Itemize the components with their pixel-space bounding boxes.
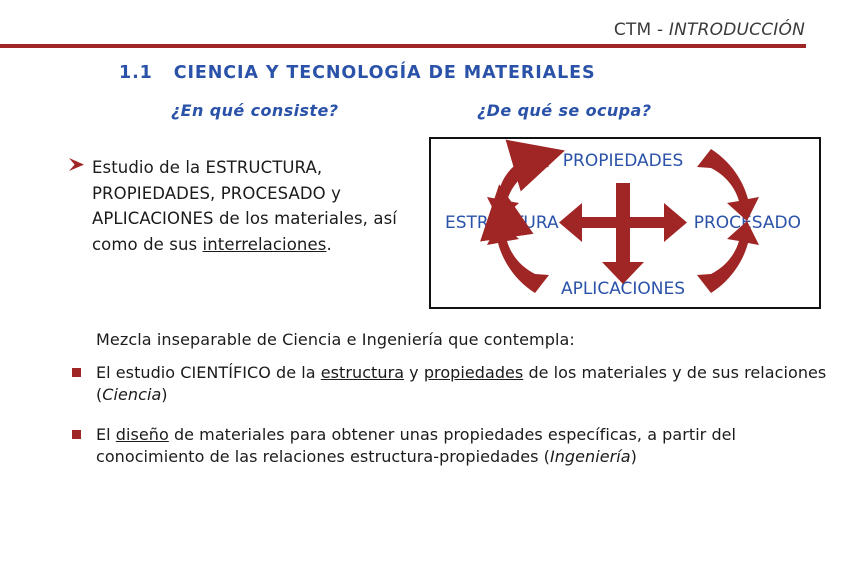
- item2-s3: ): [631, 447, 637, 466]
- item1-underline-propiedades: propiedades: [424, 363, 523, 382]
- list-item: El diseño de materiales para obtener una…: [72, 424, 832, 468]
- header-prefix: CTM -: [614, 20, 669, 40]
- item1-s1: El estudio CIENTÍFICO de la: [96, 363, 321, 382]
- definition-text: Estudio de la ESTRUCTURA, PROPIEDADES, P…: [92, 155, 428, 257]
- header-divider-rule: [0, 44, 806, 48]
- item1-underline-estructura: estructura: [321, 363, 404, 382]
- list-item-text: El diseño de materiales para obtener una…: [96, 424, 832, 468]
- item1-s4: ): [161, 385, 167, 404]
- square-bullet-icon: [72, 430, 81, 439]
- four-way-arrow-icon: [559, 183, 687, 284]
- header-subject: INTRODUCCIÓN: [669, 20, 805, 40]
- section-number: 1.1: [119, 63, 153, 83]
- list-item-text: El estudio CIENTÍFICO de la estructura y…: [96, 362, 832, 406]
- slide-header: CTM - INTRODUCCIÓN: [0, 20, 805, 40]
- curved-arrow-estructura-propiedades-group: [487, 149, 549, 221]
- question-left: ¿En qué consiste?: [171, 101, 338, 120]
- curved-arrow-propiedades-procesado-group: [697, 149, 759, 221]
- item1-italic-ciencia: Ciencia: [102, 385, 161, 404]
- list-item: El estudio CIENTÍFICO de la estructura y…: [72, 362, 832, 406]
- page-title: 1.1CIENCIA Y TECNOLOGÍA DE MATERIALES: [119, 63, 596, 83]
- square-bullet-icon: [72, 368, 81, 377]
- definition-block: Estudio de la ESTRUCTURA, PROPIEDADES, P…: [68, 155, 428, 257]
- item2-italic-ingenieria: Ingeniería: [550, 447, 631, 466]
- definition-link-interrelaciones: interrelaciones: [203, 235, 327, 254]
- definition-text-part2: .: [326, 235, 331, 254]
- arrow-bullet-icon: [68, 156, 88, 176]
- slide-canvas: CTM - INTRODUCCIÓN 1.1CIENCIA Y TECNOLOG…: [0, 0, 848, 587]
- section-title-text: CIENCIA Y TECNOLOGÍA DE MATERIALES: [174, 63, 596, 83]
- item2-s2: de materiales para obtener unas propieda…: [96, 425, 736, 466]
- item1-s2: y: [404, 363, 424, 382]
- diagram-svg: PROPIEDADES ESTRUCTURA PROCESADO APLICAC…: [431, 139, 815, 303]
- item2-s1: El: [96, 425, 116, 444]
- materials-tetrahedron-diagram: PROPIEDADES ESTRUCTURA PROCESADO APLICAC…: [429, 137, 821, 309]
- question-right: ¿De qué se ocupa?: [477, 101, 651, 120]
- item2-underline-diseno: diseño: [116, 425, 169, 444]
- body-intro-line: Mezcla inseparable de Ciencia e Ingenier…: [96, 330, 575, 349]
- diagram-label-top: PROPIEDADES: [563, 151, 684, 171]
